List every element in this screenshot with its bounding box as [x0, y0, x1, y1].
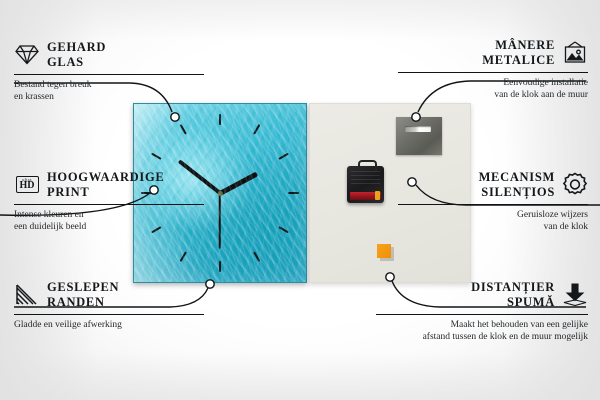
metal-hanger-plate: [396, 117, 442, 155]
feature-mecanism-silentios: MECANISMSILENȚIOS Geruisloze wijzersvan …: [398, 170, 588, 233]
feature-title: MECANISMSILENȚIOS: [479, 170, 555, 200]
clock-tick: [151, 153, 162, 160]
feature-geslepen-randen: GESLEPENRANDEN Gladde en veilige afwerki…: [14, 280, 204, 331]
foam-spacer: [377, 244, 391, 258]
feature-title: GESLEPENRANDEN: [47, 280, 119, 310]
picture-hanger-icon: [562, 41, 588, 65]
clock-hour-hand: [219, 171, 258, 195]
down-arrow-stack-icon: [562, 283, 588, 307]
mechanism-vent-lines: [351, 171, 380, 185]
feature-gehard-glas: GEHARDGLAS Bestand tegen breuken krassen: [14, 40, 204, 103]
mechanism-hang-loop: [358, 160, 377, 171]
clock-center-pivot: [218, 191, 223, 196]
feature-header: MÂNEREMETALICE: [398, 38, 588, 68]
feature-subtitle: Geruisloze wijzersvan de klok: [398, 209, 588, 233]
feature-title: GEHARDGLAS: [47, 40, 106, 70]
feature-divider: [376, 314, 588, 315]
hanger-keyhole-slot: [405, 126, 431, 132]
infographic-canvas: GEHARDGLAS Bestand tegen breuken krassen…: [0, 0, 600, 400]
feature-header: MECANISMSILENȚIOS: [398, 170, 588, 200]
feature-header: DISTANȚIERSPUMĂ: [376, 280, 588, 310]
clock-tick: [278, 226, 289, 233]
clock-tick: [253, 251, 260, 262]
feature-manere-metalice: MÂNEREMETALICE Eenvoudige installatievan…: [398, 38, 588, 101]
clock-tick: [180, 124, 187, 135]
feature-divider: [14, 314, 204, 315]
gear-icon: [562, 173, 588, 197]
feature-subtitle: Intense kleuren eneen duidelijk beeld: [14, 209, 204, 233]
aa-battery: [350, 192, 381, 200]
feature-divider: [14, 204, 204, 205]
clock-tick: [253, 124, 260, 135]
feature-header: ultra HD HOOGWAARDIGEPRINT: [14, 170, 204, 200]
feature-divider: [398, 204, 588, 205]
feature-title: MÂNEREMETALICE: [482, 38, 555, 68]
ultra-hd-icon: ultra HD: [14, 173, 40, 197]
clock-tick: [219, 114, 221, 125]
battery-plus-terminal: [375, 191, 380, 200]
feature-hoogwaardige-print: ultra HD HOOGWAARDIGEPRINT Intense kleur…: [14, 170, 204, 233]
feature-subtitle: Eenvoudige installatievan de klok aan de…: [398, 77, 588, 101]
clock-tick: [180, 251, 187, 262]
feature-divider: [398, 72, 588, 73]
feature-divider: [14, 74, 204, 75]
clock-tick: [278, 153, 289, 160]
feature-subtitle: Bestand tegen breuken krassen: [14, 79, 204, 103]
feature-header: GEHARDGLAS: [14, 40, 204, 70]
feature-subtitle: Maakt het behouden van een gelijkeafstan…: [376, 319, 588, 343]
feature-header: GESLEPENRANDEN: [14, 280, 204, 310]
feature-title: HOOGWAARDIGEPRINT: [47, 170, 164, 200]
feature-title: DISTANȚIERSPUMĂ: [471, 280, 555, 310]
clock-tick: [219, 261, 221, 272]
clock-tick: [288, 192, 299, 194]
clock-second-hand: [219, 193, 221, 249]
quartz-mechanism-box: [347, 166, 384, 203]
diamond-icon: [14, 43, 40, 67]
feature-distantier-spuma: DISTANȚIERSPUMĂ Maakt het behouden van e…: [376, 280, 588, 343]
feature-subtitle: Gladde en veilige afwerking: [14, 319, 204, 331]
diagonal-hatch-icon: [14, 283, 40, 307]
